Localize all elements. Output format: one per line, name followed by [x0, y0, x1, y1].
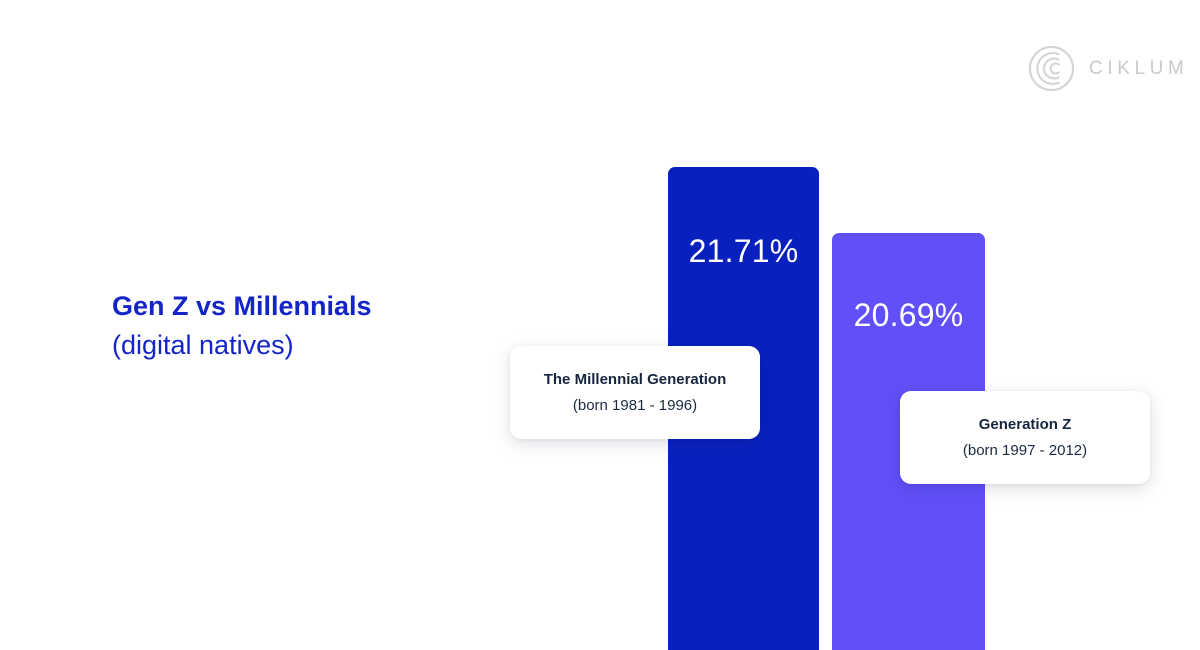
callout-millennials-subtitle: (born 1981 - 1996): [573, 395, 697, 417]
callout-genz-subtitle: (born 1997 - 2012): [963, 440, 1087, 462]
bar-value-genz: 20.69%: [832, 299, 985, 331]
slide-canvas: CIKLUM Gen Z vs Millennials (digital nat…: [0, 0, 1200, 650]
callout-millennials: The Millennial Generation (born 1981 - 1…: [510, 346, 760, 439]
callout-genz: Generation Z (born 1997 - 2012): [900, 391, 1150, 484]
bar-chart: 21.71% 20.69% The Millennial Generation …: [0, 0, 1200, 650]
callout-millennials-title: The Millennial Generation: [544, 369, 727, 391]
bar-value-millennials: 21.71%: [668, 235, 819, 267]
callout-genz-title: Generation Z: [979, 414, 1072, 436]
